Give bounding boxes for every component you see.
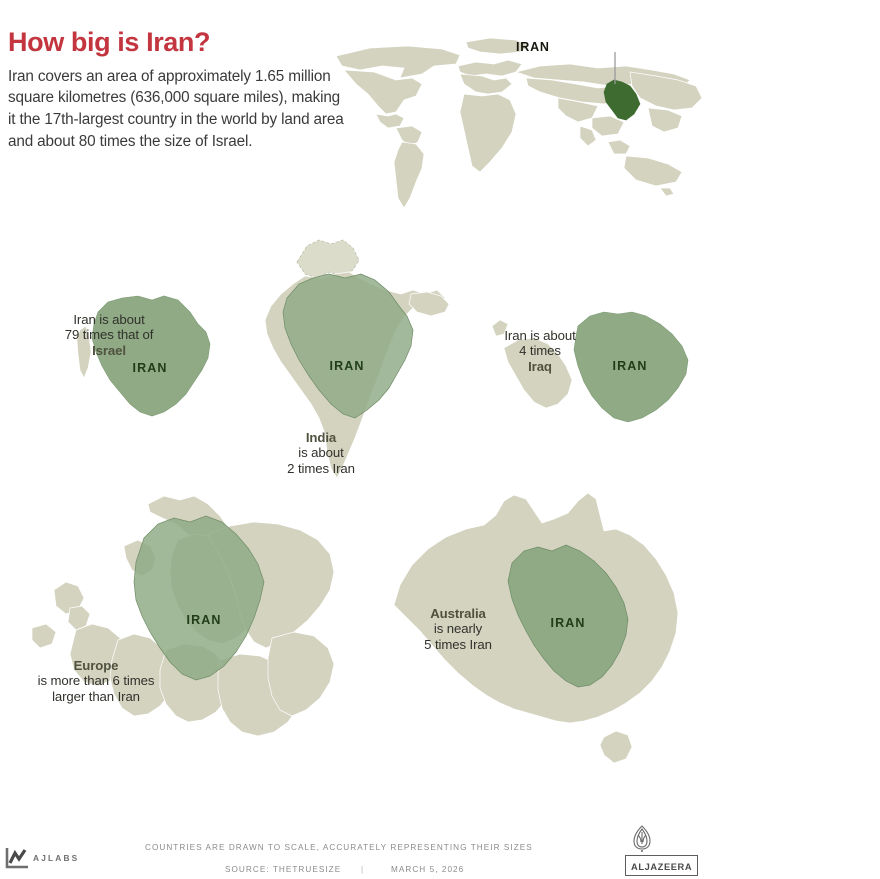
iraq-comparison-caption: Iran is about 4 times Iraq (478, 328, 602, 374)
australia-caption-line1: is nearly (434, 621, 482, 636)
publish-date: MARCH 5, 2026 (391, 865, 464, 874)
israel-caption-line1: Iran is about (73, 312, 144, 327)
source-label: SOURCE: THETRUESIZE (225, 865, 341, 874)
israel-caption-line2: 79 times that of (65, 327, 154, 342)
aljazeera-logo: ALJAZEERA (625, 824, 695, 876)
footer: COUNTRIES ARE DRAWN TO SCALE, ACCURATELY… (0, 826, 880, 879)
aljazeera-wordmark: ALJAZEERA (631, 862, 692, 872)
iran-label-europe-panel: IRAN (187, 613, 222, 627)
iran-label-australia-panel: IRAN (551, 616, 586, 630)
ajlabs-logo: AJLABS (4, 846, 79, 870)
iraq-caption-line1: Iran is about (504, 328, 575, 343)
australia-caption-line2: 5 times Iran (424, 637, 492, 652)
india-comparison-caption: India is about 2 times Iran (258, 430, 384, 476)
scale-note: COUNTRIES ARE DRAWN TO SCALE, ACCURATELY… (145, 843, 533, 852)
iraq-caption-line2: 4 times (519, 343, 561, 358)
europe-caption-line1: is more than 6 times (38, 673, 155, 688)
india-country-name: India (306, 430, 336, 445)
india-caption-line2: 2 times Iran (287, 461, 355, 476)
iran-label-israel-panel: IRAN (133, 361, 168, 375)
ajlabs-chart-icon (4, 846, 30, 870)
aljazeera-flame-icon (625, 824, 659, 854)
page-title: How big is Iran? (8, 28, 348, 58)
australia-comparison-caption: Australia is nearly 5 times Iran (396, 606, 520, 652)
israel-comparison-caption: Iran is about 79 times that of Israel (14, 312, 204, 358)
iran-label-iraq-panel: IRAN (613, 359, 648, 373)
europe-comparison-caption: Europe is more than 6 times larger than … (6, 658, 186, 704)
israel-country-name: Israel (92, 343, 126, 358)
world-landmasses (336, 38, 702, 208)
australia-country-name: Australia (430, 606, 486, 621)
europe-caption-line2: larger than Iran (52, 689, 140, 704)
europe-country-name: Europe (74, 658, 119, 673)
tasmania-shape (600, 731, 632, 763)
aljazeera-wordmark-box: ALJAZEERA (625, 855, 698, 876)
intro-paragraph: Iran covers an area of approximately 1.6… (8, 66, 348, 153)
ajlabs-wordmark: AJLABS (33, 853, 79, 863)
world-map-iran-label: IRAN (516, 40, 550, 54)
india-caption-line1: is about (298, 445, 343, 460)
iraq-country-name: Iraq (528, 359, 552, 374)
iran-label-india-panel: IRAN (330, 359, 365, 373)
headline-block: How big is Iran? Iran covers an area of … (8, 28, 348, 153)
footer-separator: | (361, 865, 364, 874)
